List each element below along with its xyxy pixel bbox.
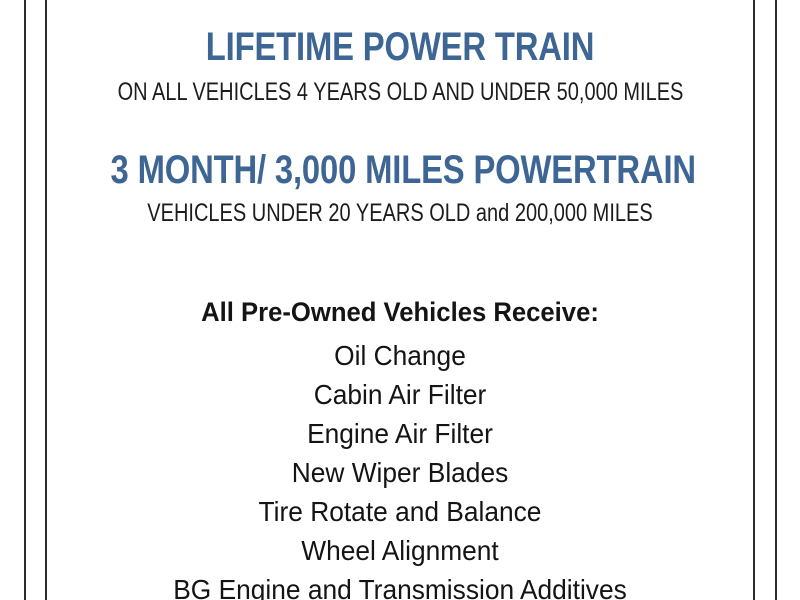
- services-section: All Pre-Owned Vehicles Receive: Oil Chan…: [47, 299, 753, 600]
- warranty-offer-lifetime: LIFETIME POWER TRAIN ON ALL VEHICLES 4 Y…: [47, 27, 753, 105]
- block-spacer: [47, 105, 753, 150]
- frame-rule-right-outer: [775, 0, 777, 600]
- service-item: Engine Air Filter: [68, 414, 732, 453]
- warranty-headline-lifetime: LIFETIME POWER TRAIN: [111, 27, 690, 67]
- promotional-flyer: LIFETIME POWER TRAIN ON ALL VEHICLES 4 Y…: [0, 0, 800, 600]
- flyer-content: LIFETIME POWER TRAIN ON ALL VEHICLES 4 Y…: [47, 0, 753, 600]
- warranty-headline-3month: 3 MONTH/ 3,000 MILES POWERTRAIN: [111, 150, 690, 190]
- frame-rule-left-outer: [24, 0, 26, 600]
- service-item: Oil Change: [68, 336, 732, 375]
- service-item: BG Engine and Transmission Additives: [68, 570, 732, 600]
- frame-rule-right-inner: [753, 0, 755, 600]
- services-heading: All Pre-Owned Vehicles Receive:: [65, 299, 736, 326]
- service-item: Tire Rotate and Balance: [68, 492, 732, 531]
- warranty-offer-3month: 3 MONTH/ 3,000 MILES POWERTRAIN VEHICLES…: [47, 150, 753, 226]
- services-list: Oil Change Cabin Air Filter Engine Air F…: [47, 336, 753, 600]
- service-item: Cabin Air Filter: [68, 375, 732, 414]
- service-item: New Wiper Blades: [68, 453, 732, 492]
- warranty-subline-lifetime: ON ALL VEHICLES 4 YEARS OLD AND UNDER 50…: [118, 79, 683, 105]
- warranty-subline-3month: VEHICLES UNDER 20 YEARS OLD and 200,000 …: [118, 200, 683, 226]
- service-item: Wheel Alignment: [68, 531, 732, 570]
